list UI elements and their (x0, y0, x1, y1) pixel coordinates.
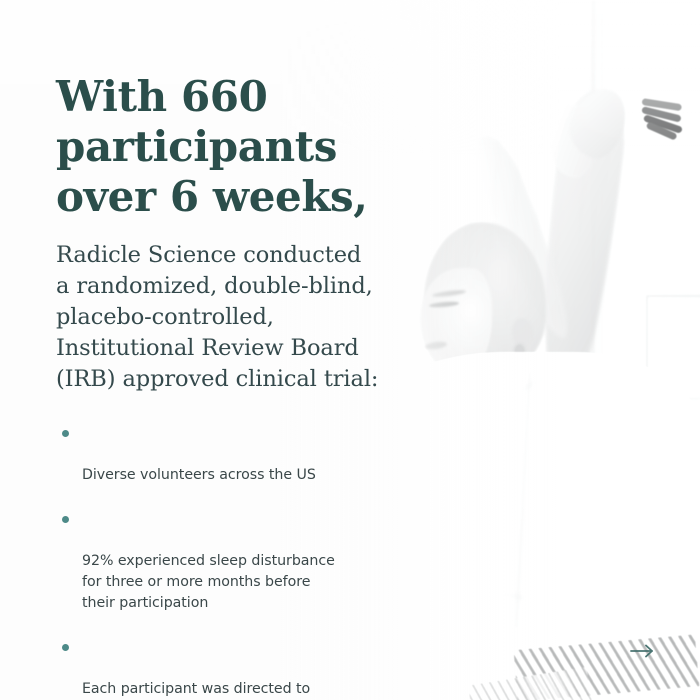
bullet-dot-icon (62, 516, 69, 523)
list-item-label: 92% experienced sleep disturbance for th… (82, 553, 335, 611)
list-item-label: Diverse volunteers across the US (82, 467, 316, 483)
subheading: Radicle Science conducted a randomized, … (56, 240, 386, 395)
arrow-right-icon (630, 642, 656, 660)
page-title: With 660 participants over 6 weeks, (56, 72, 386, 222)
list-item: Diverse volunteers across the US (56, 423, 376, 486)
fingers (642, 96, 694, 130)
list-item-label: Each participant was directed to take on… (82, 681, 321, 700)
ear (512, 318, 532, 346)
bullet-list: Diverse volunteers across the US 92% exp… (56, 423, 376, 700)
list-item: 92% experienced sleep disturbance for th… (56, 509, 376, 614)
text-content: With 660 participants over 6 weeks, Radi… (56, 72, 386, 700)
bullet-dot-icon (62, 644, 69, 651)
next-slide-button[interactable] (630, 642, 656, 660)
list-item: Each participant was directed to take on… (56, 637, 376, 700)
bullet-dot-icon (62, 430, 69, 437)
slide-root: With 660 participants over 6 weeks, Radi… (0, 0, 700, 700)
